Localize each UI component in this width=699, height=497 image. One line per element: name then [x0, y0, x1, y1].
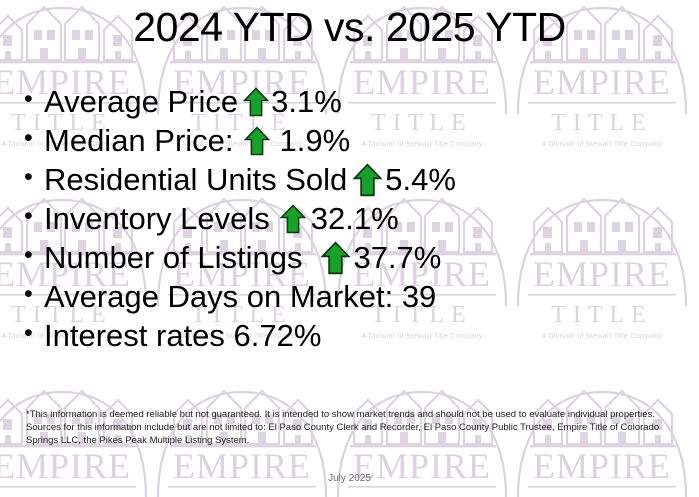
list-item: •Average Days on Market: 39: [24, 277, 684, 316]
statistics-list: •Average Price3.1%•Median Price:1.9%•Res…: [24, 82, 684, 355]
list-item: •Inventory Levels32.1%: [24, 199, 684, 238]
metric-label: Inventory Levels: [44, 202, 270, 236]
metric-label: Median Price:: [44, 124, 234, 158]
bullet-marker: •: [24, 126, 44, 151]
metric-value: 1.9%: [280, 124, 351, 158]
page-title: 2024 YTD vs. 2025 YTD: [0, 3, 699, 51]
metric-label: Number of Listings: [44, 241, 302, 275]
metric-label: Interest rates 6.72%: [44, 319, 321, 353]
slide-content: 2024 YTD vs. 2025 YTD •Average Price3.1%…: [0, 0, 699, 497]
list-item: •Residential Units Sold5.4%: [24, 160, 684, 199]
bullet-marker: •: [24, 321, 44, 346]
metric-value: 32.1%: [311, 202, 399, 236]
bullet-marker: •: [24, 243, 44, 268]
metric-value: 5.4%: [385, 163, 456, 197]
up-arrow-icon: [352, 163, 383, 197]
bullet-marker: •: [24, 282, 44, 307]
up-arrow-icon: [280, 204, 306, 234]
metric-value: 3.1%: [271, 85, 342, 119]
report-date-label: July 2025: [0, 472, 699, 486]
list-item: •Number of Listings37.7%: [24, 238, 684, 277]
metric-label: Average Days on Market: 39: [44, 280, 436, 314]
metric-label: Residential Units Sold: [44, 163, 347, 197]
list-item: •Median Price:1.9%: [24, 121, 684, 160]
bullet-marker: •: [24, 87, 44, 112]
disclaimer-footnote: *This information is deemed reliable but…: [26, 408, 671, 448]
list-item: •Average Price3.1%: [24, 82, 684, 121]
metric-label: Average Price: [44, 85, 238, 119]
up-arrow-icon: [243, 87, 269, 117]
bullet-marker: •: [24, 165, 44, 190]
bullet-marker: •: [24, 204, 44, 229]
up-arrow-icon: [320, 241, 351, 275]
metric-value: 37.7%: [353, 241, 441, 275]
slide-canvas: EMPIRE TITLE A Division of Stewart Title…: [0, 0, 699, 497]
up-arrow-icon: [244, 126, 270, 156]
list-item: •Interest rates 6.72%: [24, 316, 684, 355]
